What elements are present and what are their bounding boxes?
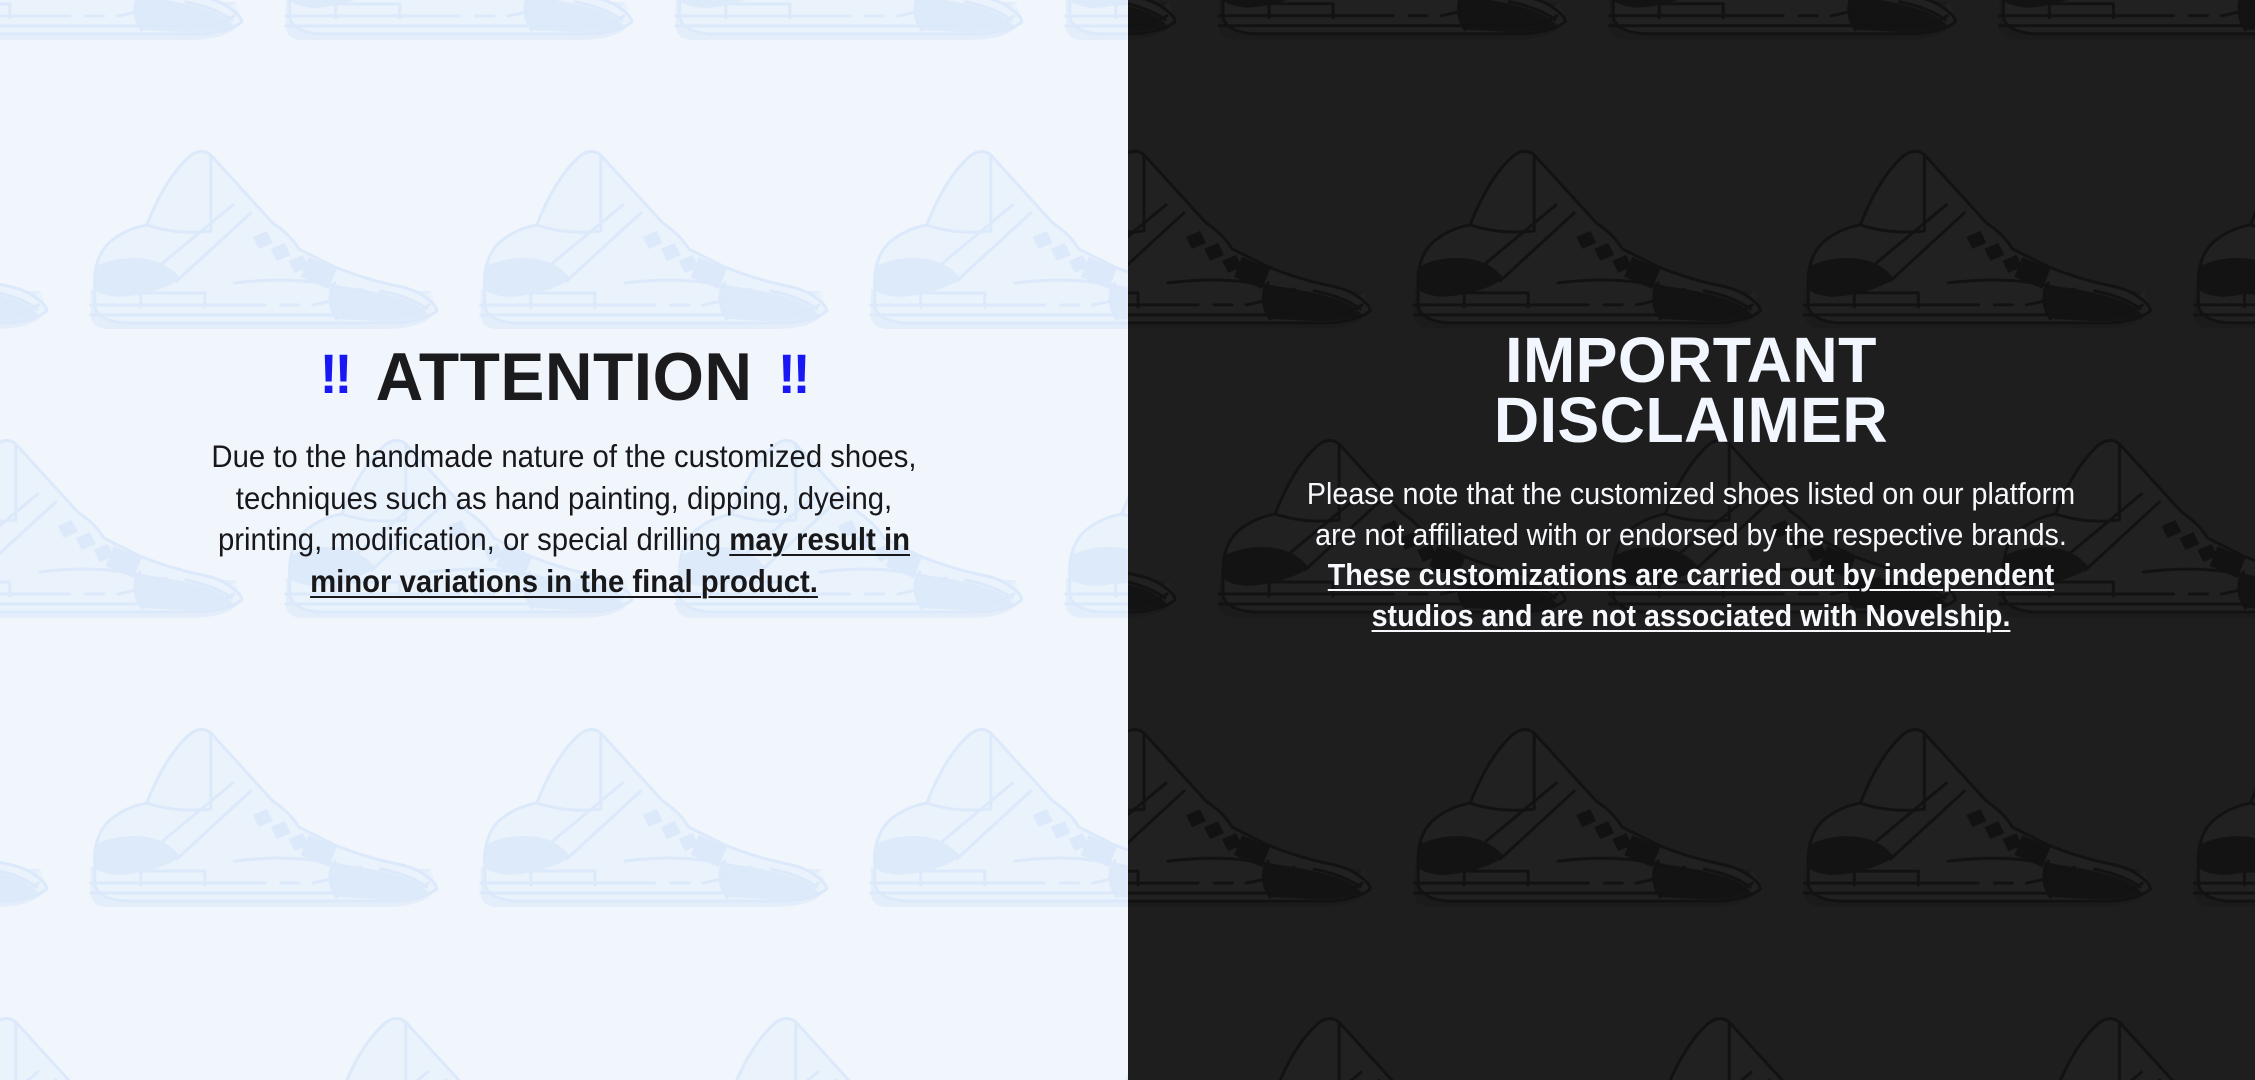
attention-panel: ‼ ATTENTION ‼ Due to the handmade nature… xyxy=(0,0,1128,1080)
attention-heading-text: ATTENTION xyxy=(375,343,752,411)
disclaimer-panel: IMPORTANT DISCLAIMER Please note that th… xyxy=(1128,0,2255,1080)
disclaimer-body: Please note that the customized shoes li… xyxy=(1301,474,2081,636)
double-exclamation-icon-right: ‼ xyxy=(777,346,808,402)
attention-heading: ‼ ATTENTION ‼ xyxy=(319,343,808,411)
disclaimer-heading: IMPORTANT DISCLAIMER xyxy=(1250,331,2132,450)
double-exclamation-icon-left: ‼ xyxy=(319,346,350,402)
disclaimer-body-normal: Please note that the customized shoes li… xyxy=(1307,477,2075,552)
disclaimer-body-emphasis: These customizations are carried out by … xyxy=(1328,558,2054,633)
disclaimer-banner: ‼ ATTENTION ‼ Due to the handmade nature… xyxy=(0,0,2255,1080)
disclaimer-heading-line2: DISCLAIMER xyxy=(1494,384,1888,456)
attention-body: Due to the handmade nature of the custom… xyxy=(187,436,940,602)
disclaimer-content: IMPORTANT DISCLAIMER Please note that th… xyxy=(1128,0,2255,1080)
attention-content: ‼ ATTENTION ‼ Due to the handmade nature… xyxy=(0,0,1128,1080)
